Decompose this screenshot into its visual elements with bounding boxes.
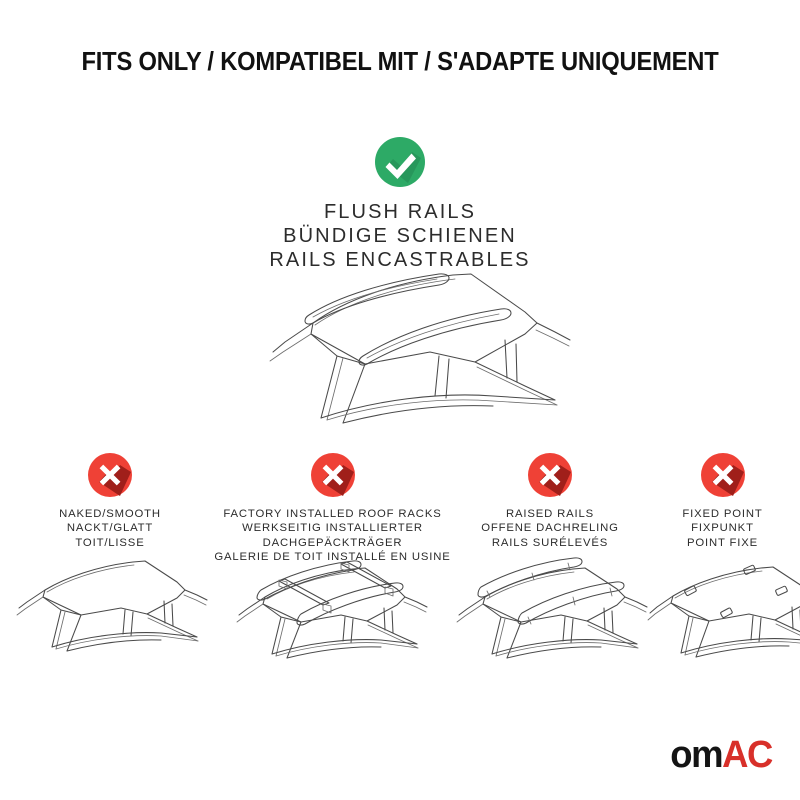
approved-label-line-2: BÜNDIGE SCHIENEN — [0, 224, 800, 248]
label-line-2: FIXPUNKT — [645, 521, 800, 535]
rejected-option-factory-roof-racks: FACTORY INSTALLED ROOF RACKS WERKSEITIG … — [205, 452, 460, 565]
fitment-infographic: FITS ONLY / KOMPATIBEL MIT / S'ADAPTE UN… — [0, 0, 800, 800]
rejected-options-row: NAKED/SMOOTH NACKT/GLATT TOIT/LISSE — [0, 452, 800, 722]
omac-logo-dark-part: om — [670, 734, 722, 776]
approved-label-line-1: FLUSH RAILS — [0, 200, 800, 224]
rejected-option-fixed-point: FIXED POINT FIXPUNKT POINT FIXE — [645, 452, 800, 550]
x-circle-icon — [310, 452, 356, 498]
rejected-option-label: RAISED RAILS OFFENE DACHRELING RAILS SUR… — [440, 507, 660, 550]
x-circle-icon — [527, 452, 573, 498]
car-roof-fixed-point-illustration — [645, 552, 800, 702]
rejected-option-naked-smooth: NAKED/SMOOTH NACKT/GLATT TOIT/LISSE — [5, 452, 215, 550]
page-title: FITS ONLY / KOMPATIBEL MIT / S'ADAPTE UN… — [28, 48, 772, 77]
check-circle-icon — [374, 136, 426, 188]
omac-logo-accent-part: AC — [722, 734, 772, 776]
car-roof-factory-roof-racks-illustration — [205, 547, 460, 702]
car-roof-with-flush-rails-illustration — [225, 268, 595, 433]
rejected-option-label: FIXED POINT FIXPUNKT POINT FIXE — [645, 507, 800, 550]
car-roof-raised-rails-illustration — [440, 547, 660, 702]
label-line-2: WERKSEITIG INSTALLIERTER — [205, 521, 460, 535]
x-circle-icon — [87, 452, 133, 498]
label-line-1: FACTORY INSTALLED ROOF RACKS — [205, 507, 460, 521]
rejected-option-raised-rails: RAISED RAILS OFFENE DACHRELING RAILS SUR… — [440, 452, 660, 550]
x-circle-icon — [700, 452, 746, 498]
omac-logo: omAC — [670, 736, 772, 774]
label-line-3: POINT FIXE — [645, 536, 800, 550]
label-line-1: FIXED POINT — [645, 507, 800, 521]
label-line-2: NACKT/GLATT — [5, 521, 215, 535]
label-line-3: TOIT/LISSE — [5, 536, 215, 550]
label-line-2: OFFENE DACHRELING — [440, 521, 660, 535]
label-line-1: RAISED RAILS — [440, 507, 660, 521]
approved-option: FLUSH RAILS BÜNDIGE SCHIENEN RAILS ENCAS… — [0, 136, 800, 272]
label-line-1: NAKED/SMOOTH — [5, 507, 215, 521]
approved-label: FLUSH RAILS BÜNDIGE SCHIENEN RAILS ENCAS… — [0, 200, 800, 272]
car-roof-naked-smooth-illustration — [5, 552, 215, 702]
rejected-option-label: NAKED/SMOOTH NACKT/GLATT TOIT/LISSE — [5, 507, 215, 550]
